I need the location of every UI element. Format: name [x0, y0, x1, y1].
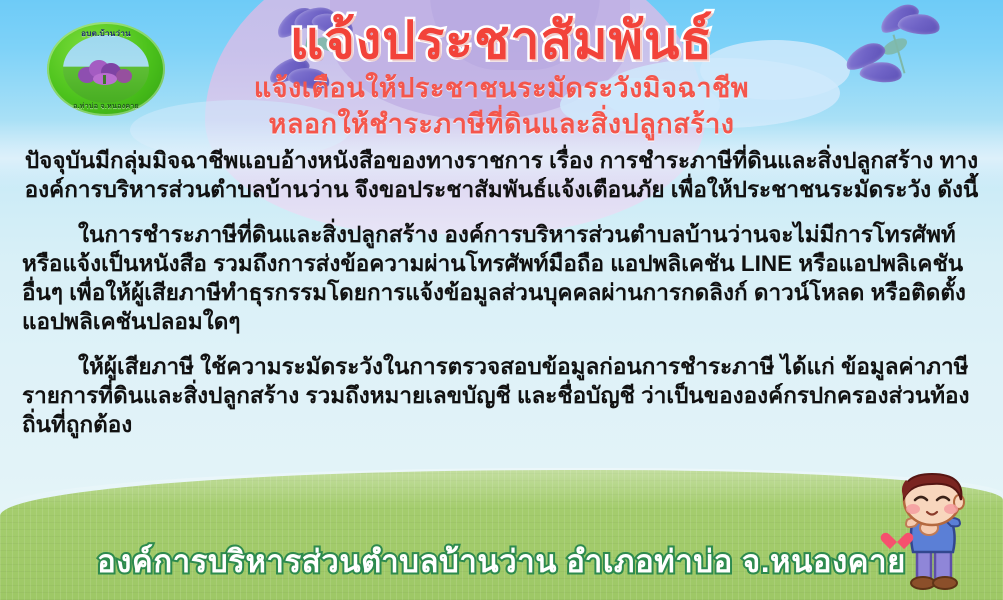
- page-title: แจ้งประชาสัมพันธ์: [0, 14, 1003, 69]
- subtitle-line-2: หลอกให้ชำระภาษีที่ดินและสิ่งปลูกสร้าง: [0, 107, 1003, 142]
- paragraph-2: ในการชำระภาษีที่ดินและสิ่งปลูกสร้าง องค์…: [22, 220, 981, 336]
- headline-block: แจ้งประชาสัมพันธ์ แจ้งเตือนให้ประชาชนระม…: [0, 14, 1003, 142]
- paragraph-1: ปัจจุบันมีกลุ่มมิจฉาชีพแอบอ้างหนังสือของ…: [22, 146, 981, 204]
- subtitle-line-1: แจ้งเตือนให้ประชาชนระมัดระวังมิจฉาชีพ: [0, 71, 1003, 106]
- heart-icon: [887, 526, 907, 544]
- paragraph-3: ให้ผู้เสียภาษี ใช้ความระมัดระวังในการตรว…: [22, 352, 981, 439]
- announcement-body: ปัจจุบันมีกลุ่มมิจฉาชีพแอบอ้างหนังสือของ…: [22, 146, 981, 455]
- announcement-poster: อบต.บ้านว่าน อ.ท่าบ่อ จ.หนองคาย แจ้งประช…: [0, 0, 1003, 600]
- organization-footer: องค์การบริหารส่วนตำบลบ้านว่าน อำเภอท่าบ่…: [0, 536, 1003, 586]
